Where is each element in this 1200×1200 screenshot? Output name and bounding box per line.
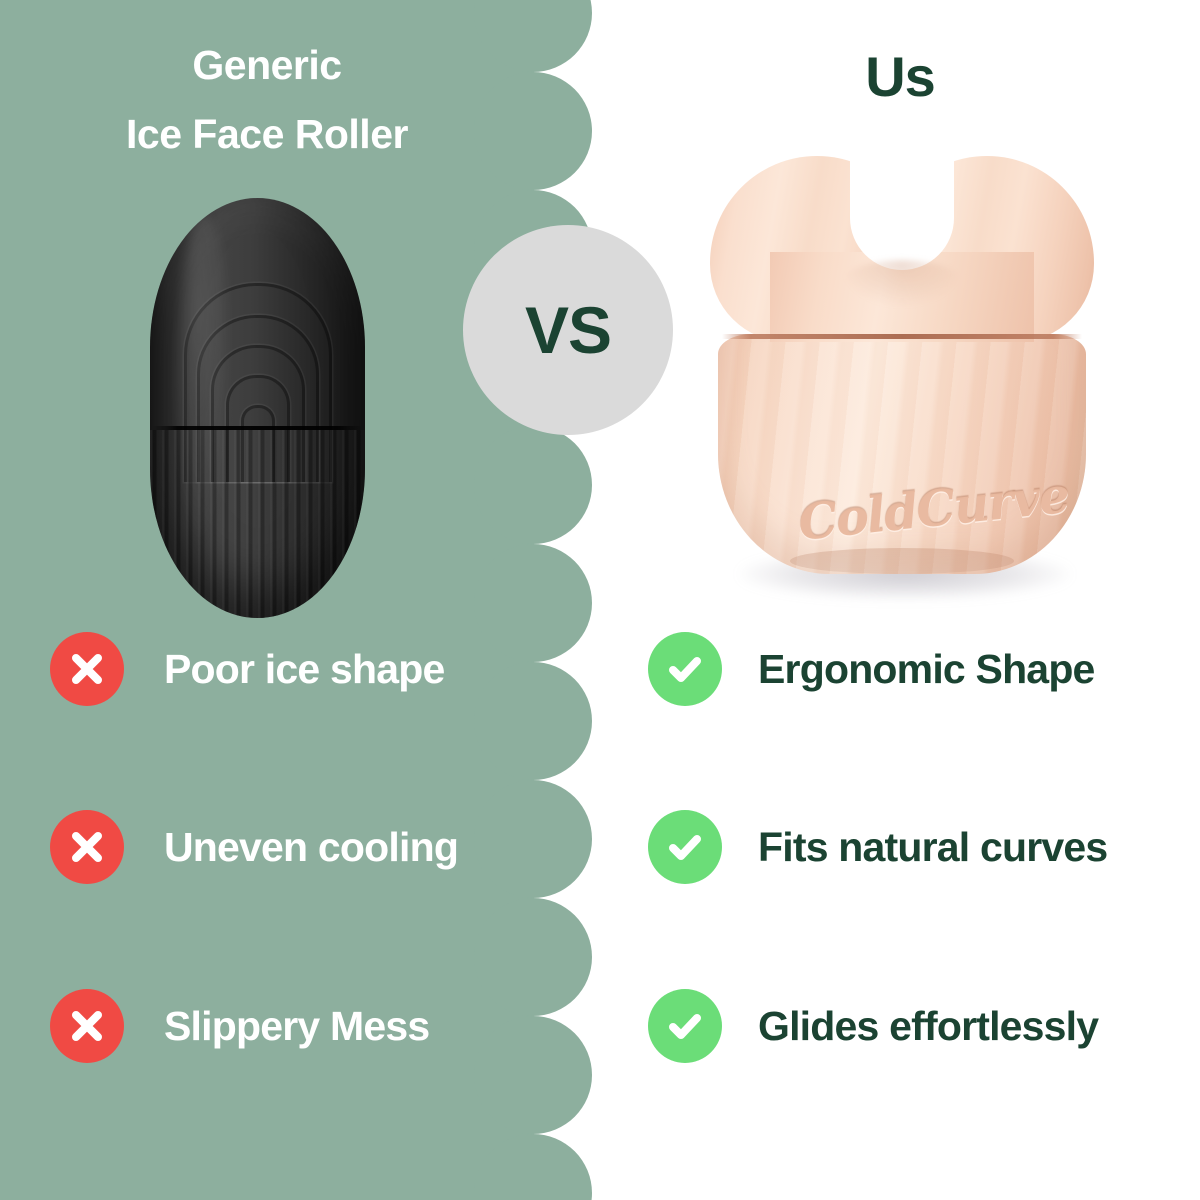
right-feature-row-3: Glides effortlessly <box>648 989 1200 1063</box>
product-base-cup <box>718 334 1086 574</box>
right-feature-label: Fits natural curves <box>758 824 1107 871</box>
product-foot <box>790 548 1014 574</box>
right-panel-heading: Us <box>620 44 1180 109</box>
scallop-bump <box>474 426 592 544</box>
product-facets <box>718 334 1086 574</box>
lid-v-notch <box>850 150 954 270</box>
left-feature-row-3: Slippery Mess <box>50 989 550 1063</box>
left-panel-heading: Generic Ice Face Roller <box>0 38 534 161</box>
left-feature-row-1: Poor ice shape <box>50 632 550 706</box>
right-feature-label: Ergonomic Shape <box>758 646 1095 693</box>
left-heading-line-2: Ice Face Roller <box>0 107 534 162</box>
our-product-image: ColdCurve <box>702 148 1102 618</box>
left-feature-label: Uneven cooling <box>164 824 458 871</box>
cross-icon <box>50 632 124 706</box>
left-feature-label: Slippery Mess <box>164 1003 429 1050</box>
vs-label: VS <box>525 297 611 363</box>
check-icon <box>648 810 722 884</box>
comparison-infographic: Generic Ice Face Roller Us <box>0 0 1200 1200</box>
product-heart-lid <box>710 156 1094 342</box>
cross-icon <box>50 989 124 1063</box>
vs-badge: VS <box>463 225 673 435</box>
right-feature-row-1: Ergonomic Shape <box>648 632 1200 706</box>
product-seam-line <box>722 334 1082 339</box>
right-feature-label: Glides effortlessly <box>758 1003 1098 1050</box>
lid-notch-shading <box>842 260 962 306</box>
left-heading-line-1: Generic <box>0 38 534 93</box>
roller-seam-line <box>152 426 363 430</box>
check-icon <box>648 632 722 706</box>
roller-body <box>150 198 365 618</box>
generic-product-image <box>150 198 365 618</box>
right-feature-row-2: Fits natural curves <box>648 810 1200 884</box>
cross-icon <box>50 810 124 884</box>
left-feature-row-2: Uneven cooling <box>50 810 550 884</box>
check-icon <box>648 989 722 1063</box>
left-feature-label: Poor ice shape <box>164 646 444 693</box>
roller-highlight <box>176 214 232 554</box>
